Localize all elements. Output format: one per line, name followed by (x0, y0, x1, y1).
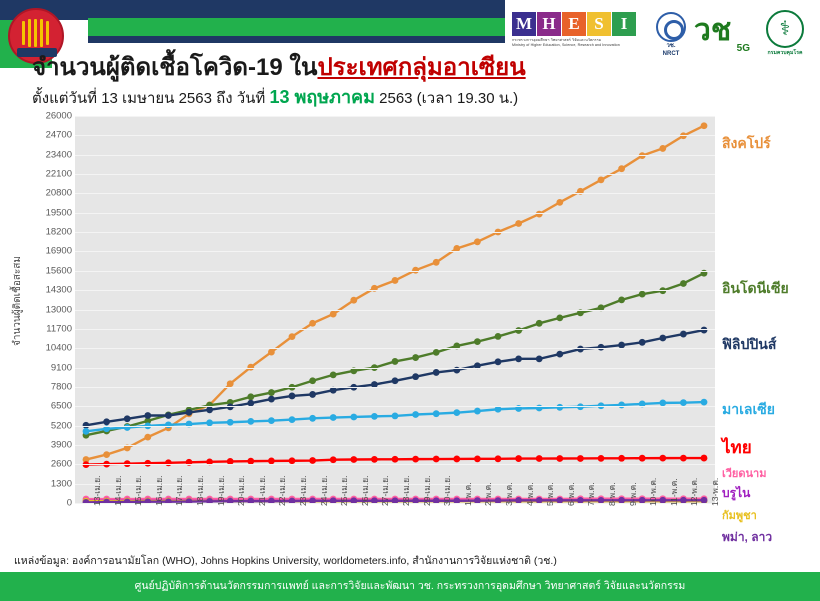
data-point (701, 399, 708, 406)
data-point (515, 355, 522, 362)
vch-glyph-icon: วช (694, 16, 754, 46)
data-point (206, 406, 213, 413)
data-point (536, 455, 543, 462)
data-point (659, 145, 666, 152)
data-point (350, 297, 357, 304)
data-point (392, 413, 399, 420)
data-point (536, 355, 543, 362)
data-point (268, 349, 275, 356)
y-tick-label: 15600 (24, 265, 72, 276)
data-point (165, 412, 172, 419)
data-point (556, 199, 563, 206)
data-point (618, 165, 625, 172)
gridline (75, 271, 715, 272)
mhesi-subtitle: กระทรวงการอุดมศึกษา วิทยาศาสตร์ วิจัยและ… (512, 38, 640, 49)
series-line (86, 126, 704, 460)
x-tick-label: 27-เม.ย. (378, 476, 392, 507)
data-point (618, 402, 625, 409)
y-tick-label: 2600 (24, 459, 72, 470)
data-point (289, 333, 296, 340)
x-tick-label: 10-พ.ค. (646, 478, 660, 506)
gridline (75, 348, 715, 349)
series-label-พม่า, ลาว: พม่า, ลาว (722, 528, 772, 547)
y-tick-label: 20800 (24, 188, 72, 199)
x-tick-label: 19-เม.ย. (214, 476, 228, 507)
y-tick-label: 26000 (24, 111, 72, 122)
gridline (75, 464, 715, 465)
gridline (75, 406, 715, 407)
series-label-บรูไน: บรูไน (722, 484, 750, 503)
gridline (75, 213, 715, 214)
mhesi-letter-e: E (562, 12, 586, 36)
ddc-logo: ⚕ กรมควบคุมโรค (760, 10, 810, 62)
data-point (556, 455, 563, 462)
mhesi-letter-m: M (512, 12, 536, 36)
data-point (412, 354, 419, 361)
data-point (659, 335, 666, 342)
data-point (659, 455, 666, 462)
ddc-label: กรมควบคุมโรค (760, 49, 810, 57)
series-label-ไทย: ไทย (722, 434, 752, 461)
data-point (144, 434, 151, 441)
x-tick-label: 12-พ.ค. (687, 478, 701, 506)
y-tick-label: 5200 (24, 420, 72, 431)
series-label-เวียดนาม: เวียดนาม (722, 464, 766, 482)
data-point (680, 280, 687, 287)
x-tick-label: 4-พ.ค. (523, 482, 537, 506)
data-point (330, 311, 337, 318)
data-point (680, 399, 687, 406)
gridline (75, 193, 715, 194)
nrct-label-th: วช. (650, 43, 692, 50)
data-point (639, 291, 646, 298)
footer-bar-text: ศูนย์ปฏิบัติการด้านนวัตกรรมการแพทย์ และก… (0, 572, 820, 601)
x-tick-label: 9-พ.ค. (626, 482, 640, 506)
series-ไทย (83, 455, 708, 468)
x-tick-label: 13-เม.ย. (90, 476, 104, 507)
gridline (75, 232, 715, 233)
x-tick-label: 28-เม.ย. (399, 476, 413, 507)
data-point (474, 408, 481, 415)
data-point (556, 404, 563, 411)
data-point (289, 457, 296, 464)
data-point (618, 455, 625, 462)
data-point (268, 389, 275, 396)
data-point (392, 456, 399, 463)
gridline (75, 135, 715, 136)
y-tick-label: 1300 (24, 478, 72, 489)
data-point (556, 314, 563, 321)
gridline (75, 426, 715, 427)
data-point (495, 358, 502, 365)
plot-area (75, 116, 715, 503)
mhesi-letter-h: H (537, 12, 561, 36)
x-tick-label: 16-เม.ย. (152, 476, 166, 507)
mhesi-letter-s: S (587, 12, 611, 36)
x-tick-label: 1-พ.ค. (461, 482, 475, 506)
subtitle-highlight: 13 พฤษภาคม (269, 87, 375, 107)
y-tick-label: 13000 (24, 304, 72, 315)
data-point (433, 349, 440, 356)
series-label-อินโดนีเซีย: อินโดนีเซีย (722, 278, 789, 300)
y-tick-label: 22100 (24, 169, 72, 180)
x-tick-label: 20-เม.ย. (234, 476, 248, 507)
covid-asean-chart-page: MHESI กระทรวงการอุดมศึกษา วิทยาศาสตร์ วิ… (0, 0, 820, 601)
gridline (75, 368, 715, 369)
gridline (75, 329, 715, 330)
x-tick-label: 25-เม.ย. (337, 476, 351, 507)
x-axis-ticks: 13-เม.ย.14-เม.ย.15-เม.ย.16-เม.ย.17-เม.ย.… (75, 506, 715, 556)
x-tick-label: 17-เม.ย. (172, 476, 186, 507)
data-point (701, 455, 708, 462)
series-line (86, 273, 704, 435)
data-point (639, 339, 646, 346)
page-title-accent: ประเทศกลุ่มอาเซียน (317, 54, 525, 81)
data-point (474, 238, 481, 245)
y-tick-label: 9100 (24, 362, 72, 373)
y-tick-label: 10400 (24, 343, 72, 354)
data-point (83, 428, 90, 435)
chart-area: จำนวนผู้ติดเชื้อสะสม 0130026003900520065… (0, 108, 820, 548)
x-tick-label: 23-เม.ย. (296, 476, 310, 507)
data-point (680, 455, 687, 462)
y-tick-label: 18200 (24, 227, 72, 238)
gridline (75, 484, 715, 485)
data-point (186, 409, 193, 416)
gridline (75, 503, 715, 504)
data-point (330, 414, 337, 421)
gridline (75, 174, 715, 175)
x-tick-label: 6-พ.ค. (564, 482, 578, 506)
gridline (75, 445, 715, 446)
vch-5g-badge: 5G (737, 43, 750, 54)
data-point (392, 377, 399, 384)
data-point (330, 371, 337, 378)
y-tick-label: 19500 (24, 207, 72, 218)
nrct-logo: วช. NRCT (650, 12, 692, 58)
data-point (247, 393, 254, 400)
series-label-กัมพูชา: กัมพูชา (722, 506, 757, 524)
x-tick-label: 30-เม.ย. (440, 476, 454, 507)
mhesi-logo: MHESI กระทรวงการอุดมศึกษา วิทยาศาสตร์ วิ… (512, 12, 640, 58)
data-point (556, 351, 563, 358)
data-point (701, 122, 708, 129)
y-tick-label: 0 (24, 498, 72, 509)
series-label-สิงคโปร์: สิงคโปร์ (722, 133, 771, 155)
x-tick-label: 29-เม.ย. (420, 476, 434, 507)
x-tick-label: 5-พ.ค. (543, 482, 557, 506)
mhesi-letter-blocks: MHESI (512, 12, 640, 36)
data-point (124, 415, 131, 422)
y-tick-label: 11700 (24, 323, 72, 334)
data-point (103, 418, 110, 425)
data-point (515, 220, 522, 227)
page-title-main: จำนวนผู้ติดเชื้อโควิด-19 ใน (32, 54, 317, 81)
x-tick-label: 3-พ.ค. (502, 482, 516, 506)
x-tick-label: 2-พ.ค. (481, 482, 495, 506)
y-axis-ticks: 0130026003900520065007800910010400117001… (18, 116, 72, 503)
data-point (309, 377, 316, 384)
series-label-มาเลเซีย: มาเลเซีย (722, 399, 775, 421)
data-point (577, 455, 584, 462)
data-point (433, 456, 440, 463)
vch-5g-logo: วช 5G (694, 16, 754, 56)
x-tick-label: 15-เม.ย. (131, 476, 145, 507)
data-point (433, 410, 440, 417)
data-point (598, 176, 605, 183)
x-tick-label: 24-เม.ย. (317, 476, 331, 507)
nrct-emblem-icon (656, 12, 686, 42)
data-point (474, 455, 481, 462)
data-point (412, 373, 419, 380)
data-source-note: แหล่งข้อมูล: องค์การอนามัยโลก (WHO), Joh… (14, 552, 557, 569)
series-label-ฟิลิปปินส์: ฟิลิปปินส์ (722, 334, 776, 356)
x-tick-label: 8-พ.ค. (605, 482, 619, 506)
data-point (289, 416, 296, 423)
gridline (75, 116, 715, 117)
data-point (598, 455, 605, 462)
data-point (371, 456, 378, 463)
data-point (474, 338, 481, 345)
data-point (350, 414, 357, 421)
x-tick-label: 22-เม.ย. (275, 476, 289, 507)
x-tick-label: 13-พ.ค. (708, 478, 722, 506)
data-point (268, 417, 275, 424)
x-tick-label: 26-เม.ย. (358, 476, 372, 507)
gridline (75, 290, 715, 291)
x-tick-label: 14-เม.ย. (111, 476, 125, 507)
data-point (618, 296, 625, 303)
data-point (412, 411, 419, 418)
data-point (433, 259, 440, 266)
data-point (309, 391, 316, 398)
x-tick-label: 7-พ.ค. (584, 482, 598, 506)
data-point (412, 456, 419, 463)
y-tick-label: 3900 (24, 439, 72, 450)
data-point (680, 331, 687, 338)
data-point (144, 460, 151, 467)
nrct-label-en: NRCT (650, 51, 692, 58)
x-tick-label: 11-พ.ค. (667, 478, 681, 506)
data-point (515, 455, 522, 462)
gridline (75, 387, 715, 388)
data-point (309, 457, 316, 464)
y-tick-label: 14300 (24, 285, 72, 296)
asean-rice-stalks (22, 19, 52, 47)
data-point (495, 455, 502, 462)
gridline (75, 155, 715, 156)
data-point (392, 277, 399, 284)
gridline (75, 251, 715, 252)
mhesi-subtitle-en: Ministry of Higher Education, Science, R… (512, 43, 640, 48)
data-point (309, 415, 316, 422)
x-tick-label: 21-เม.ย. (255, 476, 269, 507)
data-point (247, 418, 254, 425)
footer-bar: ศูนย์ปฏิบัติการด้านนวัตกรรมการแพทย์ และก… (0, 572, 820, 601)
data-point (371, 413, 378, 420)
y-tick-label: 6500 (24, 401, 72, 412)
data-point (433, 369, 440, 376)
page-subtitle: ตั้งแต่วันที่ 13 เมษายน 2563 ถึง วันที่ … (32, 82, 518, 111)
data-point (392, 358, 399, 365)
subtitle-post: 2563 (เวลา 19.30 น.) (375, 90, 518, 107)
data-point (453, 409, 460, 416)
data-point (495, 333, 502, 340)
data-point (453, 456, 460, 463)
x-tick-label: 18-เม.ย. (193, 476, 207, 507)
data-point (289, 393, 296, 400)
mhesi-letter-i: I (612, 12, 636, 36)
data-point (144, 412, 151, 419)
y-tick-label: 24700 (24, 130, 72, 141)
data-point (103, 451, 110, 458)
series-มาเลเซีย (83, 399, 708, 435)
y-tick-label: 16900 (24, 246, 72, 257)
gridline (75, 310, 715, 311)
subtitle-pre: ตั้งแต่วันที่ 13 เมษายน 2563 ถึง วันที่ (32, 90, 269, 107)
data-point (268, 396, 275, 403)
data-point (536, 320, 543, 327)
data-point (536, 211, 543, 218)
y-tick-label: 23400 (24, 149, 72, 160)
data-point (330, 456, 337, 463)
data-point (309, 320, 316, 327)
ddc-caduceus-icon: ⚕ (766, 10, 804, 48)
y-tick-label: 7800 (24, 381, 72, 392)
data-point (639, 455, 646, 462)
data-point (350, 456, 357, 463)
page-title: จำนวนผู้ติดเชื้อโควิด-19 ในประเทศกลุ่มอา… (32, 47, 526, 86)
data-point (701, 327, 708, 334)
